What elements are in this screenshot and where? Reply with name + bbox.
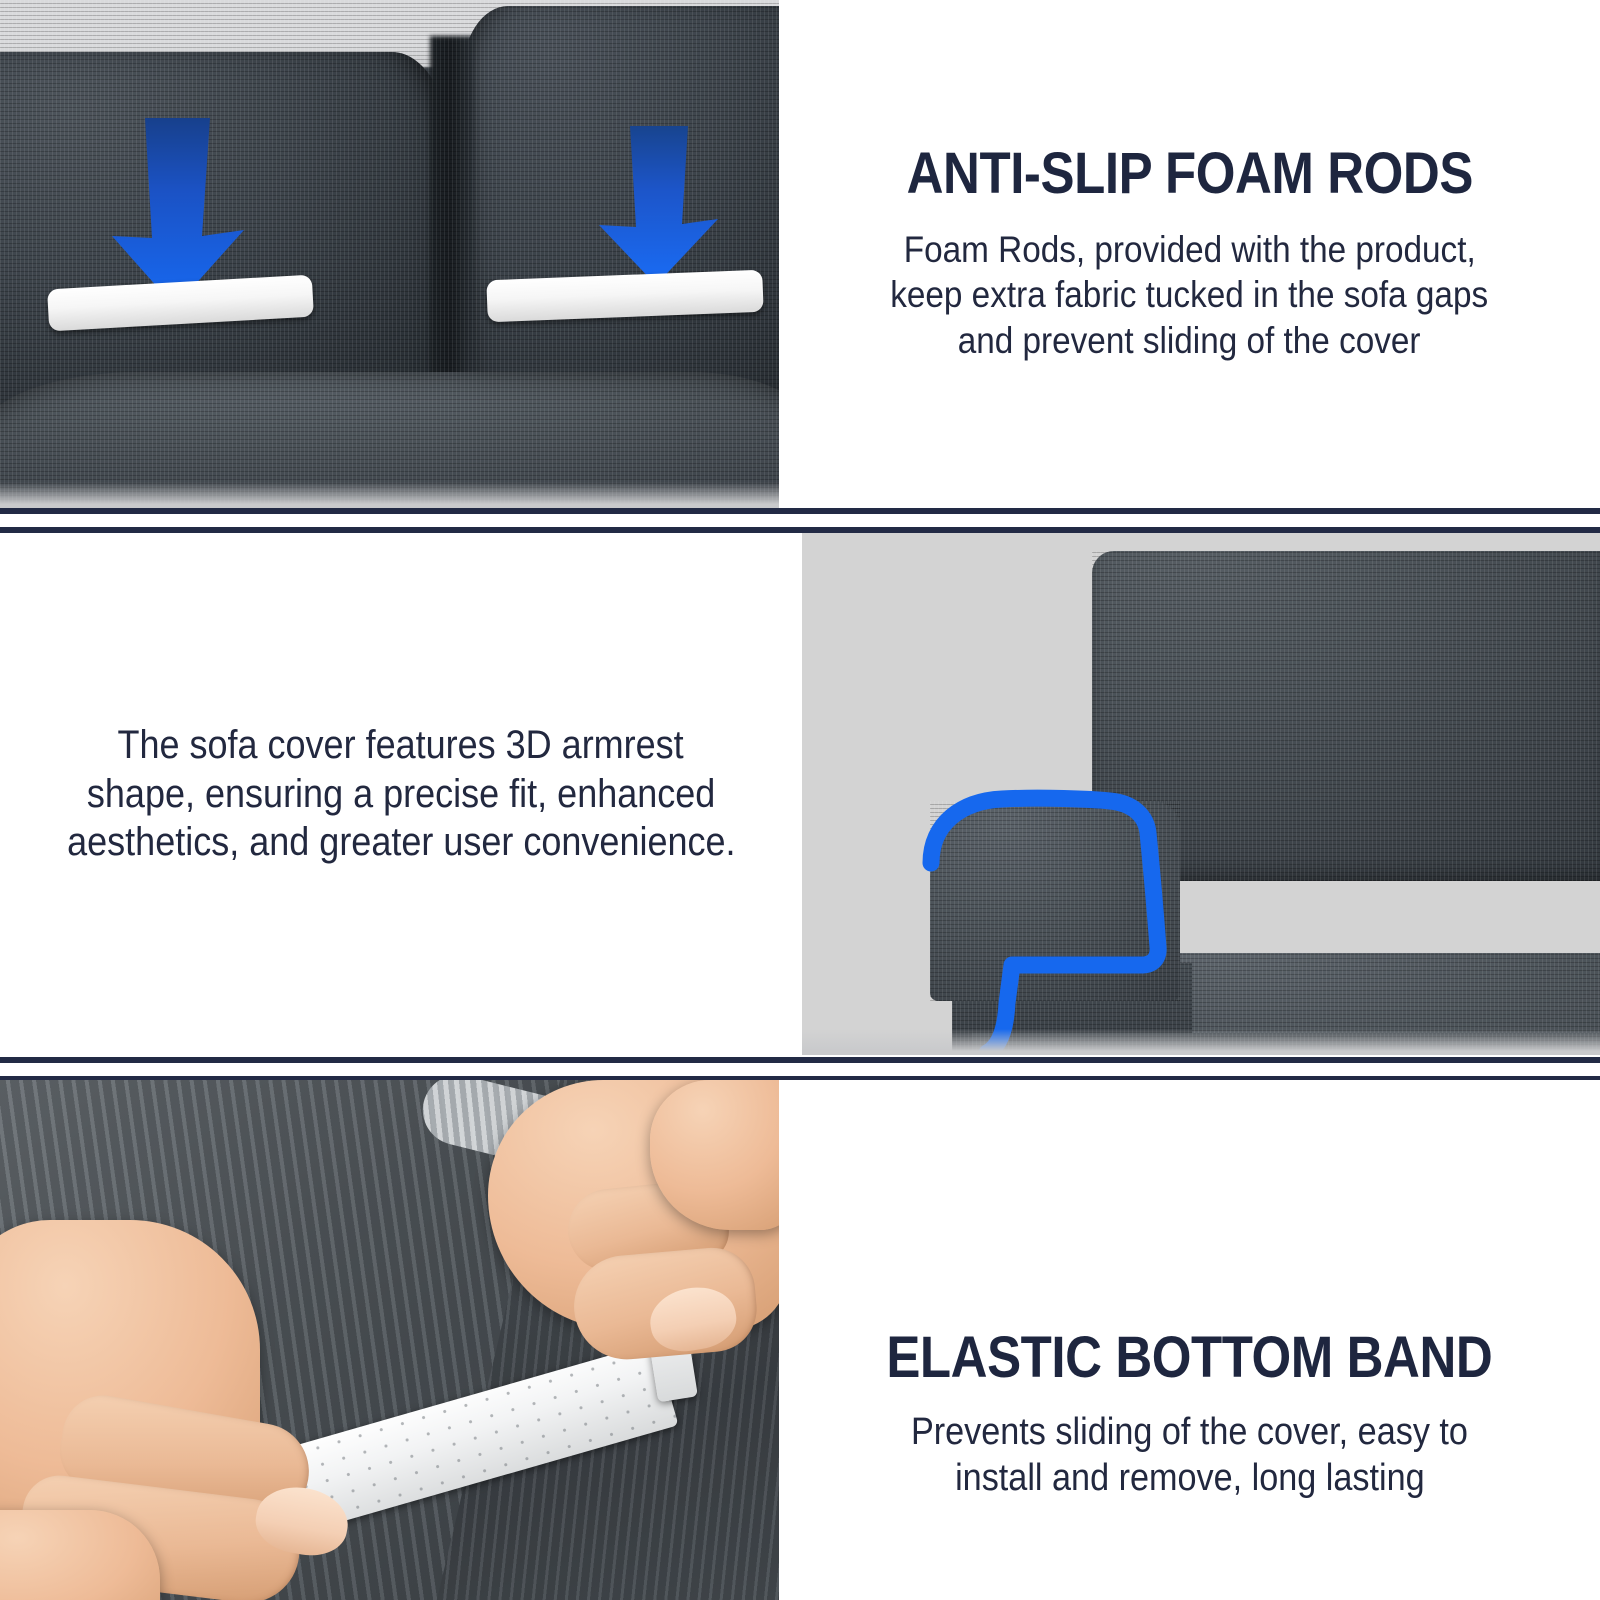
body-line: and prevent sliding of the cover	[958, 318, 1421, 363]
divider-line-top-a	[0, 508, 1600, 514]
infographic-page: ANTI-SLIP FOAM RODS Foam Rods, provided …	[0, 0, 1600, 1600]
body-line: Prevents sliding of the cover, easy to	[911, 1409, 1468, 1455]
section-3d-armrest-text: The sofa cover features 3D armrest shape…	[0, 533, 802, 1055]
page-title-anti-slip-foam-rods: ANTI-SLIP FOAM RODS	[906, 145, 1472, 203]
foam-rods-photo	[0, 0, 779, 508]
body-line: Foam Rods, provided with the product,	[904, 227, 1476, 272]
page-title-elastic-bottom-band: ELASTIC BOTTOM BAND	[887, 1329, 1493, 1387]
body-line: keep extra fabric tucked in the sofa gap…	[891, 272, 1489, 317]
photo-bottom-shade	[802, 1029, 1600, 1055]
photo-bottom-shade	[0, 482, 779, 508]
section-anti-slip-foam-rods-text: ANTI-SLIP FOAM RODS Foam Rods, provided …	[779, 0, 1600, 508]
divider-line-bottom-a	[0, 1057, 1600, 1063]
armrest-photo	[802, 533, 1600, 1055]
elastic-band-photo	[0, 1080, 779, 1600]
section-elastic-bottom-band-text: ELASTIC BOTTOM BAND Prevents sliding of …	[779, 1080, 1600, 1600]
armrest-highlight-outline-icon	[802, 533, 1600, 1055]
body-line: aesthetics, and greater user convenience…	[67, 818, 735, 867]
body-line: The sofa cover features 3D armrest	[118, 721, 684, 770]
body-line: install and remove, long lasting	[955, 1455, 1425, 1501]
body-line: shape, ensuring a precise fit, enhanced	[87, 770, 715, 819]
